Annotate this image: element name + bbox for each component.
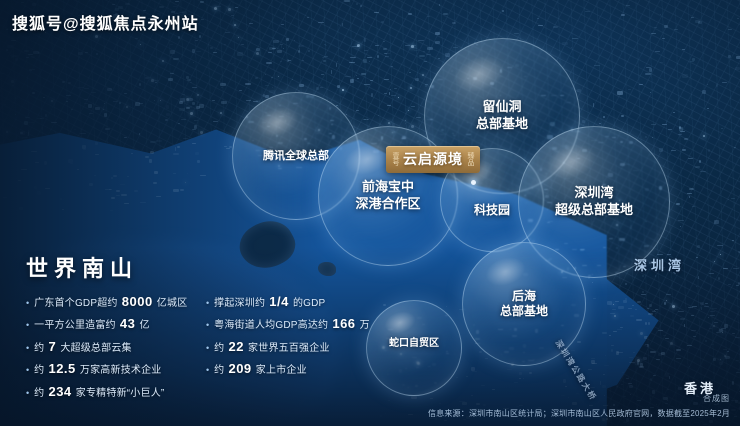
- stat-number: 12.5: [44, 361, 80, 376]
- stat-list-item: •约 7 大超级总部云集: [26, 339, 194, 356]
- bubble-label-shenzhen-bay-hq: 深圳湾 超级总部基地: [555, 185, 633, 218]
- stat-number: 1/4: [265, 294, 293, 309]
- bubble-label-tencent-hq: 腾讯全球总部: [263, 149, 329, 163]
- watermark-text: 搜狐号@搜狐焦点永州站: [12, 10, 199, 34]
- stat-text: 广东首个GDP超约 8000 亿城区: [34, 294, 187, 311]
- bubble-label-shekou: 蛇口自贸区: [389, 338, 439, 359]
- shenzhen-nanshan-map-poster: 搜狐号@搜狐焦点永州站 腾讯全球总部 留仙洞 总部基地 前海宝中 深港合作区 科…: [0, 0, 740, 426]
- bullet-icon: •: [206, 366, 209, 375]
- stat-number: 22: [224, 339, 248, 354]
- stat-number: 166: [328, 316, 359, 331]
- bullet-icon: •: [26, 321, 29, 330]
- bullet-icon: •: [206, 299, 209, 308]
- bubble-shekou[interactable]: 蛇口自贸区: [366, 300, 462, 396]
- stat-text: 粤海街道人均GDP高达约 166 万: [214, 316, 370, 333]
- bullet-icon: •: [26, 366, 29, 375]
- stat-list-item: •约 12.5 万家高新技术企业: [26, 361, 194, 378]
- stat-number: 234: [44, 384, 75, 399]
- stat-text: 约 22 家世界五百强企业: [214, 339, 330, 356]
- stat-number: 209: [224, 361, 255, 376]
- project-badge[interactable]: 壹号 云启源境 臻品: [386, 146, 480, 173]
- panel-title: 世界南山: [26, 251, 356, 283]
- map-label-shenzhen-bay: 深圳湾: [634, 255, 685, 274]
- stat-number: 43: [116, 316, 140, 331]
- stat-text: 一平方公里造富约 43 亿: [34, 316, 150, 333]
- source-disclaimer: 信息来源：深圳市南山区统计局；深圳市南山区人民政府官网，数据截至2025年2月: [428, 408, 730, 419]
- stat-text: 约 234 家专精特新“小巨人”: [34, 384, 164, 401]
- badge-location-dot: [471, 180, 476, 185]
- stat-list-item: •约 22 家世界五百强企业: [206, 339, 356, 356]
- stat-text: 约 7 大超级总部云集: [34, 339, 132, 356]
- stats-column-right: •撑起深圳约 1/4 的GDP•粤海街道人均GDP高达约 166 万•约 22 …: [206, 294, 356, 401]
- badge-mark-right: 臻品: [467, 152, 474, 166]
- stat-list-item: •约 209 家上市企业: [206, 361, 356, 378]
- bullet-icon: •: [206, 344, 209, 353]
- stat-list-item: •撑起深圳约 1/4 的GDP: [206, 294, 356, 311]
- bullet-icon: •: [26, 299, 29, 308]
- badge-mark-left: 壹号: [392, 152, 399, 166]
- stats-column-left: •广东首个GDP超约 8000 亿城区•一平方公里造富约 43 亿•约 7 大超…: [26, 294, 194, 401]
- stat-list-item: •一平方公里造富约 43 亿: [26, 316, 194, 333]
- bubble-label-keji-park: 科技园: [474, 181, 510, 218]
- stat-number: 7: [44, 339, 60, 354]
- badge-label: 云启源境: [403, 149, 463, 169]
- stat-list-item: •广东首个GDP超约 8000 亿城区: [26, 294, 194, 311]
- stat-list-item: •约 234 家专精特新“小巨人”: [26, 384, 194, 401]
- stats-columns: •广东首个GDP超约 8000 亿城区•一平方公里造富约 43 亿•约 7 大超…: [26, 294, 356, 401]
- bullet-icon: •: [26, 389, 29, 398]
- stat-list-item: •粤海街道人均GDP高达约 166 万: [206, 316, 356, 333]
- info-panel: 世界南山 •广东首个GDP超约 8000 亿城区•一平方公里造富约 43 亿•约…: [26, 251, 356, 401]
- stat-text: 约 209 家上市企业: [214, 361, 307, 378]
- stat-text: 撑起深圳约 1/4 的GDP: [214, 294, 325, 311]
- bullet-icon: •: [26, 344, 29, 353]
- bullet-icon: •: [206, 321, 209, 330]
- bubble-label-houhai: 后海 总部基地: [500, 289, 548, 320]
- stat-number: 8000: [118, 294, 157, 309]
- stat-text: 约 12.5 万家高新技术企业: [34, 361, 161, 378]
- bubble-label-liuxiandong: 留仙洞 总部基地: [476, 99, 528, 132]
- composite-image-note: 合成图: [703, 393, 730, 404]
- bubble-label-qianhai: 前海宝中 深港合作区: [355, 179, 420, 212]
